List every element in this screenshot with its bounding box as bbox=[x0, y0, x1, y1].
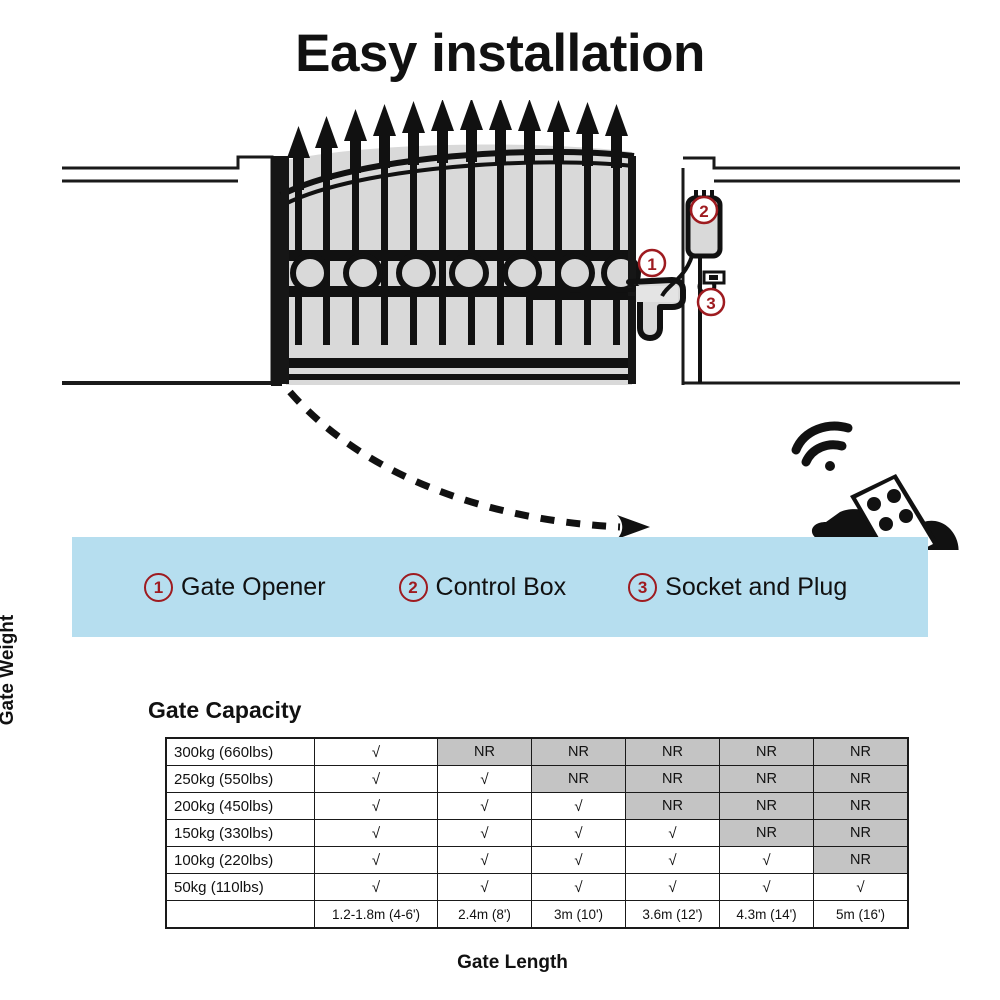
capacity-cell-nr: NR bbox=[814, 738, 909, 766]
table-row: 50kg (110lbs)√√√√√√ bbox=[166, 874, 908, 901]
capacity-cell-ok: √ bbox=[315, 820, 438, 847]
gate-weight-cell: 250kg (550lbs) bbox=[166, 766, 315, 793]
gate-weight-axis-label: Gate Weight bbox=[0, 580, 19, 760]
capacity-cell-nr: NR bbox=[720, 738, 814, 766]
legend-label-control-box: Control Box bbox=[436, 573, 567, 602]
table-row: 150kg (330lbs)√√√√NRNR bbox=[166, 820, 908, 847]
left-gate-post-icon bbox=[271, 156, 282, 386]
gate-weight-cell: 50kg (110lbs) bbox=[166, 874, 315, 901]
left-wall-icon bbox=[62, 157, 272, 385]
callout-3-icon: 3 bbox=[698, 289, 724, 315]
capacity-cell-ok: √ bbox=[438, 847, 532, 874]
capacity-cell-ok: √ bbox=[720, 847, 814, 874]
capacity-cell-nr: NR bbox=[814, 766, 909, 793]
gate-weight-cell: 200kg (450lbs) bbox=[166, 793, 315, 820]
capacity-cell-nr: NR bbox=[626, 766, 720, 793]
gate-capacity-table-wrap: 300kg (660lbs)√NRNRNRNRNR250kg (550lbs)√… bbox=[165, 737, 909, 929]
capacity-cell-ok: √ bbox=[438, 766, 532, 793]
capacity-cell-nr: NR bbox=[814, 820, 909, 847]
capacity-cell-ok: √ bbox=[315, 766, 438, 793]
svg-text:3: 3 bbox=[706, 294, 715, 313]
capacity-cell-ok: √ bbox=[438, 793, 532, 820]
capacity-cell-ok: √ bbox=[626, 874, 720, 901]
capacity-cell-ok: √ bbox=[626, 820, 720, 847]
capacity-cell-ok: √ bbox=[315, 793, 438, 820]
capacity-cell-nr: NR bbox=[626, 793, 720, 820]
legend-label-gate-opener: Gate Opener bbox=[181, 573, 326, 602]
capacity-cell-ok: √ bbox=[315, 874, 438, 901]
capacity-cell-nr: NR bbox=[720, 793, 814, 820]
table-row: 200kg (450lbs)√√√NRNRNR bbox=[166, 793, 908, 820]
hand-holding-remote-icon bbox=[796, 426, 959, 550]
callout-2-icon: 2 bbox=[691, 197, 717, 223]
gate-length-header-cell: 4.3m (14') bbox=[720, 901, 814, 929]
legend-item-socket-and-plug: 3 Socket and Plug bbox=[628, 573, 847, 602]
capacity-cell-ok: √ bbox=[720, 874, 814, 901]
legend-item-control-box: 2 Control Box bbox=[399, 573, 567, 602]
gate-length-header-cell: 3m (10') bbox=[532, 901, 626, 929]
capacity-cell-nr: NR bbox=[720, 820, 814, 847]
gate-length-axis-label: Gate Length bbox=[165, 952, 860, 974]
capacity-cell-ok: √ bbox=[532, 847, 626, 874]
legend-marker-2-icon: 2 bbox=[399, 573, 428, 602]
capacity-cell-ok: √ bbox=[532, 874, 626, 901]
capacity-cell-nr: NR bbox=[720, 766, 814, 793]
page-root: Easy installation bbox=[0, 0, 1000, 1000]
table-row: 300kg (660lbs)√NRNRNRNRNR bbox=[166, 738, 908, 766]
callout-1-icon: 1 bbox=[639, 250, 665, 276]
capacity-cell-ok: √ bbox=[814, 874, 909, 901]
svg-text:1: 1 bbox=[647, 255, 656, 274]
gate-capacity-title: Gate Capacity bbox=[148, 697, 301, 724]
power-cables-icon bbox=[662, 256, 700, 383]
gate-icon bbox=[281, 100, 638, 385]
capacity-cell-ok: √ bbox=[532, 793, 626, 820]
legend-band: 1 Gate Opener 2 Control Box 3 Socket and… bbox=[72, 537, 928, 637]
table-row: 100kg (220lbs)√√√√√NR bbox=[166, 847, 908, 874]
legend-marker-1-icon: 1 bbox=[144, 573, 173, 602]
capacity-cell-ok: √ bbox=[315, 738, 438, 766]
capacity-cell-nr: NR bbox=[532, 766, 626, 793]
capacity-cell-ok: √ bbox=[438, 820, 532, 847]
page-title: Easy installation bbox=[0, 26, 1000, 82]
gate-length-header-cell: 3.6m (12') bbox=[626, 901, 720, 929]
capacity-cell-ok: √ bbox=[626, 847, 720, 874]
gate-weight-cell: 100kg (220lbs) bbox=[166, 847, 315, 874]
legend-label-socket-and-plug: Socket and Plug bbox=[665, 573, 847, 602]
capacity-cell-nr: NR bbox=[814, 793, 909, 820]
capacity-cell-ok: √ bbox=[532, 820, 626, 847]
installation-illustration: 1 2 3 bbox=[0, 100, 1000, 550]
gate-weight-cell: 150kg (330lbs) bbox=[166, 820, 315, 847]
capacity-cell-nr: NR bbox=[814, 847, 909, 874]
legend-items: 1 Gate Opener 2 Control Box 3 Socket and… bbox=[72, 537, 928, 637]
capacity-cell-nr: NR bbox=[532, 738, 626, 766]
legend-marker-3-icon: 3 bbox=[628, 573, 657, 602]
gate-length-header-cell: 1.2-1.8m (4-6') bbox=[315, 901, 438, 929]
gate-length-header-row: 1.2-1.8m (4-6')2.4m (8')3m (10')3.6m (12… bbox=[166, 901, 908, 929]
capacity-cell-nr: NR bbox=[438, 738, 532, 766]
gate-swing-dashed-arrow-icon bbox=[290, 392, 650, 539]
table-corner-cell bbox=[166, 901, 315, 929]
gate-weight-cell: 300kg (660lbs) bbox=[166, 738, 315, 766]
gate-length-header-cell: 2.4m (8') bbox=[438, 901, 532, 929]
gate-capacity-table: 300kg (660lbs)√NRNRNRNRNR250kg (550lbs)√… bbox=[165, 737, 909, 929]
table-row: 250kg (550lbs)√√NRNRNRNR bbox=[166, 766, 908, 793]
gate-length-header-cell: 5m (16') bbox=[814, 901, 909, 929]
wireless-signal-icon bbox=[796, 426, 848, 471]
capacity-cell-nr: NR bbox=[626, 738, 720, 766]
legend-item-gate-opener: 1 Gate Opener bbox=[144, 573, 326, 602]
svg-text:2: 2 bbox=[699, 202, 708, 221]
capacity-cell-ok: √ bbox=[438, 874, 532, 901]
capacity-cell-ok: √ bbox=[315, 847, 438, 874]
